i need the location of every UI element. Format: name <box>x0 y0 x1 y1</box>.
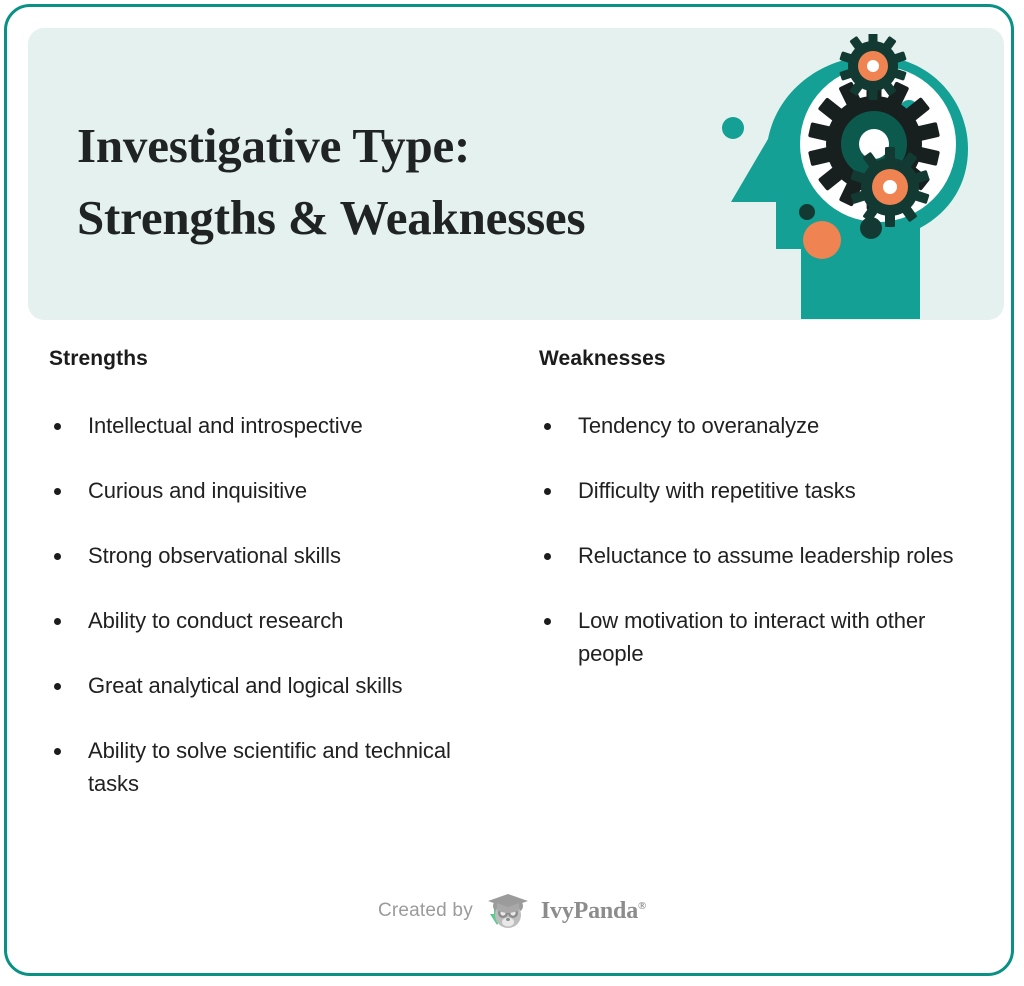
brand-text: IvyPanda <box>541 898 638 924</box>
list-item: Strong observational skills <box>49 539 488 572</box>
strengths-heading: Strengths <box>49 347 497 371</box>
footer-attribution: Created by <box>7 891 1014 931</box>
created-by-label: Created by <box>378 900 473 922</box>
infographic-card: Investigative Type: Strengths & Weakness… <box>4 4 1014 976</box>
list-item: Ability to solve scientific and technica… <box>49 734 488 800</box>
header-panel: Investigative Type: Strengths & Weakness… <box>28 28 1004 320</box>
ivypanda-panda-logo-icon <box>484 891 530 931</box>
page-title: Investigative Type: Strengths & Weakness… <box>77 110 717 254</box>
head-with-gears-icon <box>706 34 986 319</box>
strengths-list: Intellectual and introspective Curious a… <box>49 409 497 800</box>
strengths-column: Strengths Intellectual and introspective… <box>7 347 497 800</box>
weaknesses-column: Weaknesses Tendency to overanalyze Diffi… <box>497 347 987 800</box>
list-item: Reluctance to assume leadership roles <box>539 539 978 572</box>
list-item: Great analytical and logical skills <box>49 669 488 702</box>
brand-name: IvyPanda® <box>541 898 646 925</box>
content-columns: Strengths Intellectual and introspective… <box>7 347 1014 800</box>
list-item: Tendency to overanalyze <box>539 409 978 442</box>
list-item: Curious and inquisitive <box>49 474 488 507</box>
registered-mark: ® <box>638 900 646 912</box>
weaknesses-list: Tendency to overanalyze Difficulty with … <box>539 409 987 670</box>
list-item: Difficulty with repetitive tasks <box>539 474 978 507</box>
list-item: Low motivation to interact with other pe… <box>539 604 978 670</box>
weaknesses-heading: Weaknesses <box>539 347 987 371</box>
list-item: Ability to conduct research <box>49 604 488 637</box>
list-item: Intellectual and introspective <box>49 409 488 442</box>
